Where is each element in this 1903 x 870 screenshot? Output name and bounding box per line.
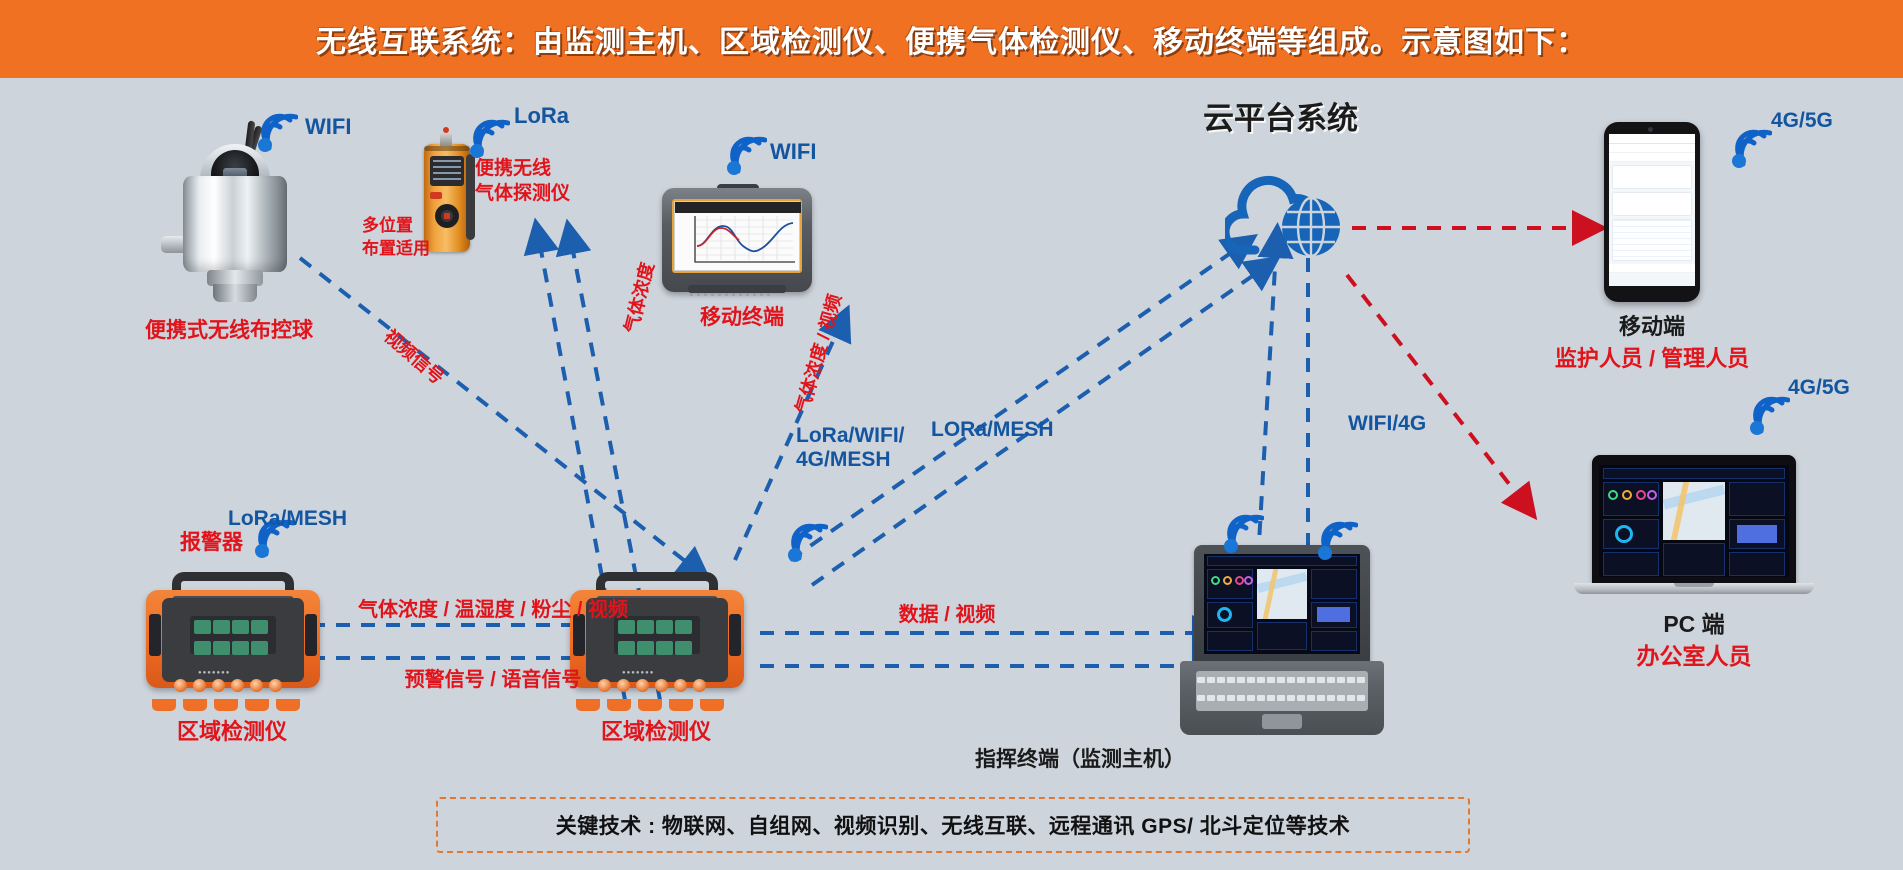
detector-power-button[interactable] bbox=[430, 192, 442, 199]
phone-appbar bbox=[1609, 144, 1695, 153]
phone-sublabel: 监护人员 / 管理人员 bbox=[1555, 345, 1749, 373]
dash-tile-log-right bbox=[1729, 552, 1785, 576]
detector-top-clip bbox=[424, 146, 470, 151]
camera-label: 便携式无线布控球 bbox=[145, 318, 313, 344]
phone-card-1 bbox=[1612, 165, 1692, 189]
term-gauge-1 bbox=[1211, 576, 1220, 585]
header-banner: 无线互联系统：由监测主机、区域检测仪、便携气体检测仪、移动终端等组成。示意图如下… bbox=[0, 0, 1903, 78]
term-gauge-3 bbox=[1235, 576, 1244, 585]
wifi-icon-terminal-left bbox=[1222, 513, 1264, 553]
detector-feet-center bbox=[576, 698, 738, 710]
detector-dpad[interactable] bbox=[435, 204, 459, 228]
handheld-label-line1: 便携无线 bbox=[475, 157, 551, 181]
detector-keypad-left[interactable] bbox=[190, 616, 276, 654]
terminal-signal-right: WIFI/4G bbox=[1348, 411, 1426, 437]
area-detector-center-device: ●●●●●●● bbox=[570, 572, 744, 702]
dash-big-dial bbox=[1615, 525, 1633, 543]
dash-tile-bars bbox=[1729, 482, 1785, 516]
handheld-label-line2: 气体探测仪 bbox=[475, 182, 570, 206]
detector-strap bbox=[466, 154, 475, 240]
tablet-display[interactable] bbox=[674, 201, 800, 271]
phone-statusbar bbox=[1609, 134, 1695, 144]
laptop-deck bbox=[1574, 583, 1814, 594]
detector-brand-left: ●●●●●●● bbox=[198, 670, 230, 676]
camera-base bbox=[213, 284, 257, 302]
key-technology-banner: 关键技术 : 物联网、自组网、视频识别、无线互联、远程通讯 GPS/ 北斗定位等… bbox=[436, 797, 1470, 853]
dash-minimap bbox=[1663, 482, 1725, 540]
diagram-canvas: 无线互联系统：由监测主机、区域检测仪、便携气体检测仪、移动终端等组成。示意图如下… bbox=[0, 0, 1903, 870]
terminal-screen[interactable] bbox=[1204, 554, 1360, 654]
term-tile-log-r bbox=[1311, 631, 1357, 651]
area-detector-left-device: ●●●●●●● bbox=[146, 572, 320, 702]
camera-signal-label: WIFI bbox=[305, 113, 351, 141]
area-detector-left-label: 区域检测仪 bbox=[177, 718, 287, 746]
phone-signal-label: 4G/5G bbox=[1771, 108, 1833, 134]
alarm-badge-label: 报警器 bbox=[180, 530, 243, 556]
terminal-touchpad[interactable] bbox=[1262, 714, 1302, 729]
term-tile-bars bbox=[1311, 569, 1357, 599]
phone-chart bbox=[1612, 219, 1692, 261]
term-big-dial bbox=[1217, 607, 1232, 622]
area-detector-signal-line1: LoRa/WIFI/ bbox=[796, 423, 905, 449]
camera-body bbox=[183, 176, 287, 272]
detector-knobs-left[interactable] bbox=[174, 679, 292, 695]
handheld-note-line2: 布置适用 bbox=[362, 238, 430, 259]
handheld-note-line1: 多位置 bbox=[362, 215, 413, 236]
dash-video-fill bbox=[1737, 525, 1777, 543]
area-detector-center-label: 区域检测仪 bbox=[601, 718, 711, 746]
detector-feet-left bbox=[152, 698, 314, 710]
phone-card-2 bbox=[1612, 192, 1692, 216]
gauge-ring-3 bbox=[1636, 490, 1646, 500]
dash-tile-log-left bbox=[1603, 552, 1659, 576]
pc-label: PC 端 bbox=[1663, 610, 1724, 639]
alarm-signal-label: LoRa/MESH bbox=[228, 506, 347, 532]
mobile-tablet-device bbox=[662, 188, 812, 298]
key-technology-text: 关键技术 : 物联网、自组网、视频识别、无线互联、远程通讯 GPS/ 北斗定位等… bbox=[556, 810, 1351, 840]
cloud-platform-icon bbox=[1225, 155, 1365, 265]
dash-tile-log-mid bbox=[1663, 543, 1725, 576]
detector-side-left bbox=[149, 614, 161, 656]
handheld-signal-label: LoRa bbox=[514, 102, 569, 130]
tablet-signal-label: WIFI bbox=[770, 138, 816, 166]
link-label-gas-and-video: 气体浓度 / 视频 bbox=[791, 292, 847, 416]
gauge-ring-4 bbox=[1647, 490, 1657, 500]
wifi-icon-phone bbox=[1730, 128, 1772, 168]
tablet-bottom-ports bbox=[688, 285, 786, 293]
term-tile-log-l bbox=[1207, 631, 1253, 651]
link-label-detector-to-detector: 气体浓度 / 温湿度 / 粉尘 / 视频 bbox=[358, 598, 628, 623]
term-tile-log bbox=[1257, 622, 1307, 650]
gauge-ring-1 bbox=[1608, 490, 1618, 500]
detector-sensor-cap bbox=[440, 132, 452, 146]
link-label-gas-concentration: 气体浓度 bbox=[620, 260, 659, 335]
dash-tile-header bbox=[1603, 468, 1785, 479]
wifi-icon-camera bbox=[256, 112, 298, 152]
phone-camera-icon bbox=[1648, 127, 1653, 132]
link-label-data-video: 数据 / 视频 bbox=[899, 603, 996, 628]
term-video-fill bbox=[1317, 607, 1350, 622]
wifi-icon-tablet bbox=[725, 135, 767, 175]
pc-laptop-device bbox=[1574, 455, 1814, 597]
detector-side-right-c bbox=[729, 614, 741, 656]
pc-sublabel: 办公室人员 bbox=[1637, 642, 1752, 671]
wifi-icon-handheld bbox=[468, 118, 510, 158]
link-label-detector-back: 预警信号 / 语音信号 bbox=[405, 668, 582, 693]
terminal-keyboard[interactable] bbox=[1196, 671, 1368, 711]
link-label-video-signal: 视频信号 bbox=[379, 325, 448, 389]
gauge-ring-2 bbox=[1622, 490, 1632, 500]
detector-brand-center: ●●●●●●● bbox=[622, 670, 654, 676]
smartphone-device bbox=[1604, 122, 1700, 302]
wifi-icon-area-detector bbox=[786, 522, 828, 562]
ptz-camera-device bbox=[155, 118, 325, 308]
detector-screen bbox=[430, 156, 464, 186]
term-minimap bbox=[1257, 569, 1307, 619]
term-gauge-2 bbox=[1223, 576, 1232, 585]
wifi-icon-terminal-right bbox=[1316, 520, 1358, 560]
terminal-signal-left: LORa/MESH bbox=[931, 417, 1054, 443]
phone-label: 移动端 bbox=[1619, 313, 1685, 341]
detector-knobs-center[interactable] bbox=[598, 679, 716, 695]
cloud-platform-title: 云平台系统 bbox=[1203, 100, 1358, 139]
page-title: 无线互联系统：由监测主机、区域检测仪、便携气体检测仪、移动终端等组成。示意图如下… bbox=[316, 17, 1587, 61]
phone-screen[interactable] bbox=[1609, 134, 1695, 286]
term-gauge-4 bbox=[1244, 576, 1253, 585]
detector-side-right bbox=[305, 614, 317, 656]
phone-footer bbox=[1609, 264, 1695, 273]
command-terminal-label: 指挥终端（监测主机） bbox=[975, 747, 1185, 773]
tablet-label: 移动终端 bbox=[700, 305, 784, 331]
phone-toolbar bbox=[1609, 153, 1695, 162]
laptop-screen[interactable] bbox=[1599, 465, 1789, 577]
pc-signal-label: 4G/5G bbox=[1788, 375, 1850, 401]
command-terminal-device bbox=[1180, 545, 1384, 737]
wifi-icon-pc bbox=[1748, 395, 1790, 435]
area-detector-signal-line2: 4G/MESH bbox=[796, 447, 891, 473]
